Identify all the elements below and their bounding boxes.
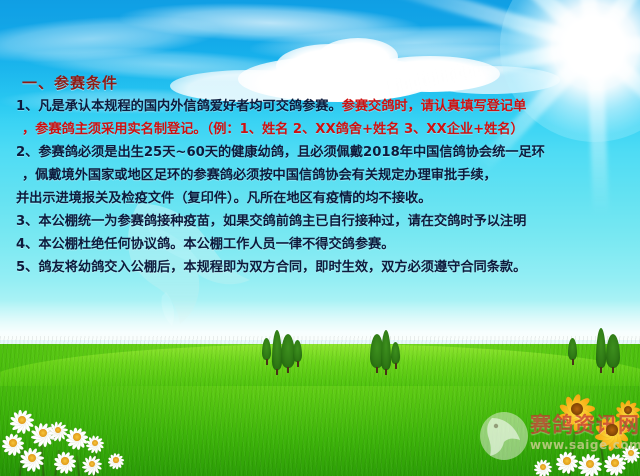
rule-line-rule-3: 3、本公棚统一为参赛鸽接种疫苗，如果交鸽前鸽主已自行接种过，请在交鸽时予以注明 bbox=[16, 212, 632, 232]
rule-line-rule-5: 5、鸽友将幼鸽交入公棚后，本规程即为双方合同，即时生效，双方必须遵守合同条款。 bbox=[16, 258, 632, 278]
rule-line-rule-1-a: 1、凡是承认本规程的国内外信鸽爱好者均可交鸽参赛。参赛交鸽时，请认真填写登记单 bbox=[16, 97, 632, 117]
rule-line-rule-2-b: ，佩戴境外国家或地区足环的参赛鸽必须按中国信鸽协会有关规定办理审批手续， bbox=[22, 166, 632, 186]
rule-line-rule-4: 4、本公棚杜绝任何协议鸽。本公棚工作人员一律不得交鸽参赛。 bbox=[16, 235, 632, 255]
rule-line-list: 1、凡是承认本规程的国内外信鸽爱好者均可交鸽参赛。参赛交鸽时，请认真填写登记单，… bbox=[8, 97, 632, 278]
rule-text-segment: 2、参赛鸽必须是出生25天~60天的健康幼鸽，且必须佩戴2018年中国信鸽协会统… bbox=[16, 145, 545, 160]
rule-text-segment: 4、本公棚杜绝任何协议鸽。本公棚工作人员一律不得交鸽参赛。 bbox=[16, 237, 394, 252]
rule-line-rule-2-c: 并出示进境报关及检疫文件（复印件）。凡所在地区有疫情的均不接收。 bbox=[16, 189, 632, 209]
rule-line-rule-2-a: 2、参赛鸽必须是出生25天~60天的健康幼鸽，且必须佩戴2018年中国信鸽协会统… bbox=[16, 143, 632, 163]
page-title: 一、参赛条件 bbox=[22, 72, 632, 93]
rule-text-segment: 并出示进境报关及检疫文件（复印件）。凡所在地区有疫情的均不接收。 bbox=[16, 191, 431, 206]
rule-line-rule-1-b: ，参赛鸽主须采用实名制登记。（例：1、姓名 2、XX鸽舍+姓名 3、XX企业+姓… bbox=[22, 120, 632, 140]
rule-text-segment: 5、鸽友将幼鸽交入公棚后，本规程即为双方合同，即时生效，双方必须遵守合同条款。 bbox=[16, 260, 526, 275]
grass-texture bbox=[0, 336, 640, 476]
rule-text-segment: 3、本公棚统一为参赛鸽接种疫苗，如果交鸽前鸽主已自行接种过，请在交鸽时予以注明 bbox=[16, 214, 526, 229]
rule-text-segment: 1、凡是承认本规程的国内外信鸽爱好者均可交鸽参赛。 bbox=[16, 99, 342, 114]
rule-text-segment: ，佩戴境外国家或地区足环的参赛鸽必须按中国信鸽协会有关规定办理审批手续， bbox=[22, 168, 497, 183]
regulation-text-block: 一、参赛条件 1、凡是承认本规程的国内外信鸽爱好者均可交鸽参赛。参赛交鸽时，请认… bbox=[0, 72, 640, 281]
poster-canvas: 一、参赛条件 1、凡是承认本规程的国内外信鸽爱好者均可交鸽参赛。参赛交鸽时，请认… bbox=[0, 0, 640, 476]
rule-text-segment: ，参赛鸽主须采用实名制登记。（例：1、姓名 2、XX鸽舍+姓名 3、XX企业+姓… bbox=[22, 122, 524, 137]
rule-text-segment: 参赛交鸽时，请认真填写登记单 bbox=[342, 99, 527, 114]
